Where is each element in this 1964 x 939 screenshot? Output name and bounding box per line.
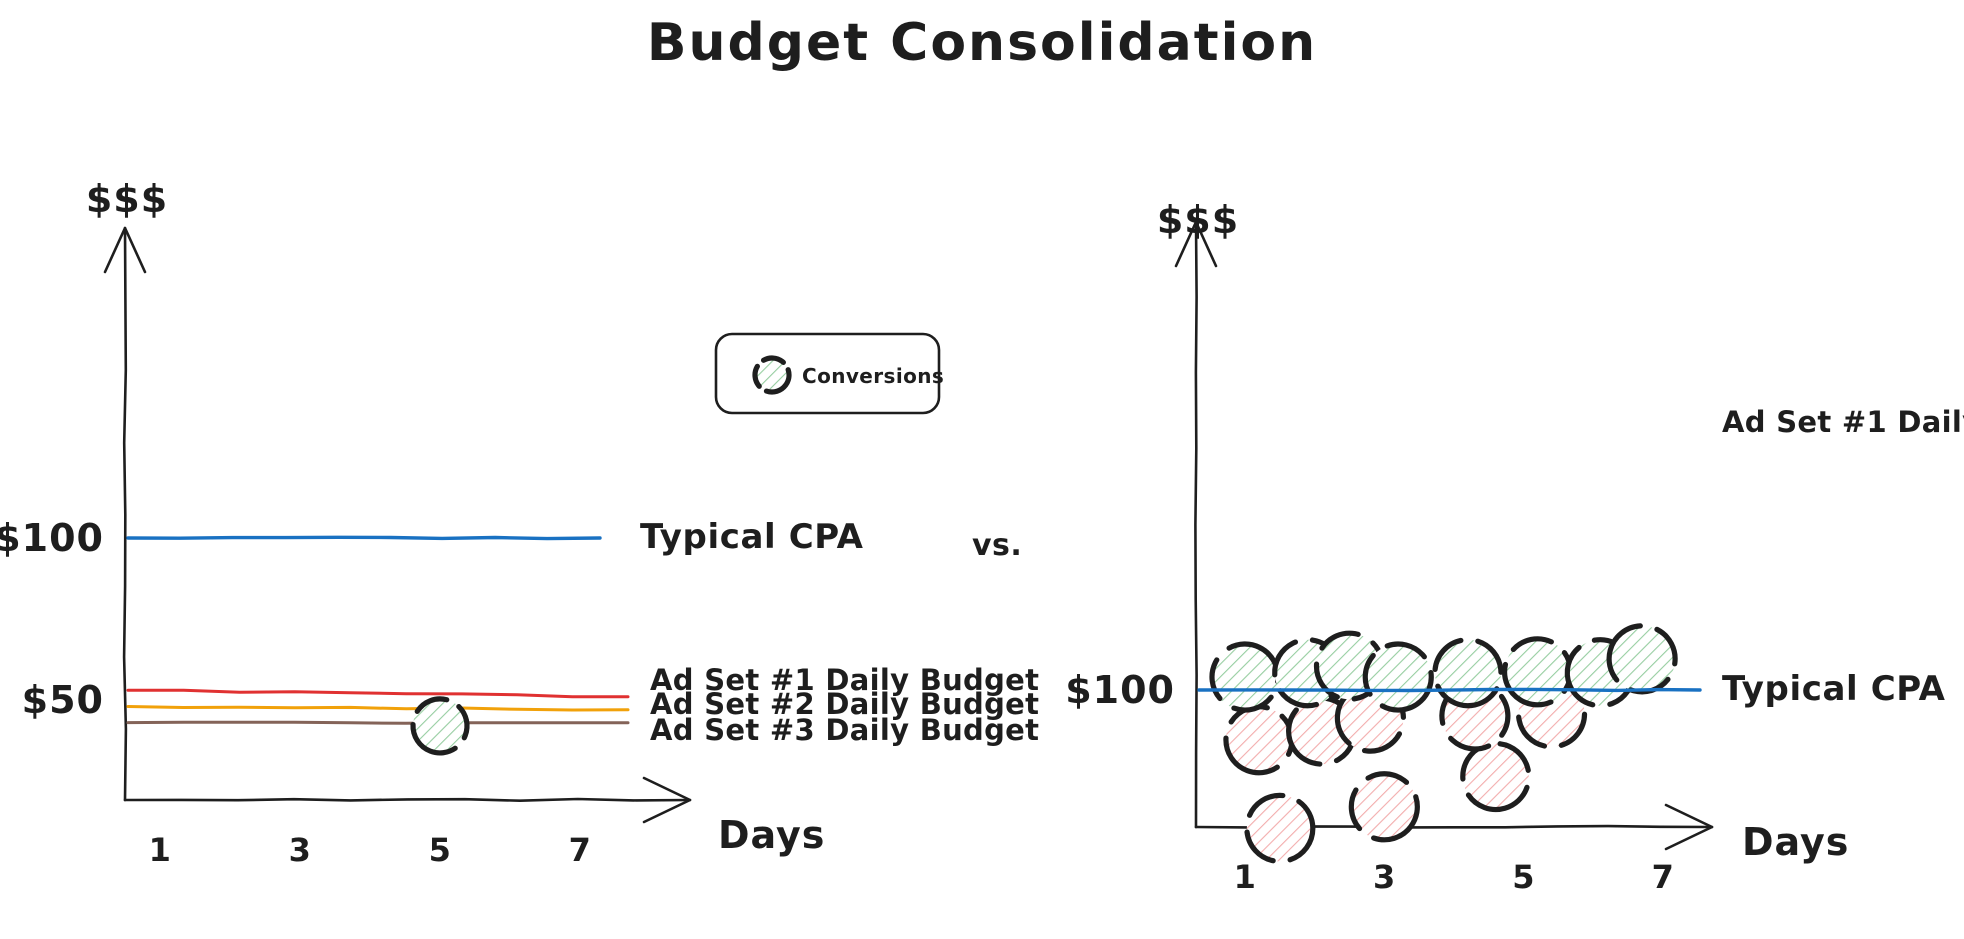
right-y-axis-label: $$$ xyxy=(1157,198,1239,242)
right-y-tick-100: $100 xyxy=(1065,668,1175,712)
legend-label: Conversions xyxy=(802,364,944,388)
right-series-line-cpa xyxy=(1199,689,1700,690)
left-y-tick-50: $50 xyxy=(22,678,104,722)
left-y-axis-label: $$$ xyxy=(86,177,168,221)
diagram-canvas: Budget Consolidation$$$Days$100$501357Ty… xyxy=(0,0,1964,939)
page-title: Budget Consolidation xyxy=(647,13,1317,73)
conversion-bubble xyxy=(1247,795,1313,861)
y-axis-line xyxy=(1195,222,1196,827)
y-axis-line xyxy=(124,228,126,800)
right-y-tick-715: $715 xyxy=(1065,934,1175,939)
page-title-text: Budget Consolidation xyxy=(647,13,1317,73)
consolidated-budget-chart: $$$Days$715$1001357Ad Set #1 Daily Budge… xyxy=(1065,198,1964,939)
left-x-axis-label: Days xyxy=(718,813,825,857)
left-series-label-3: Ad Set #3 Daily Budget xyxy=(650,713,1039,747)
conversion-bubble xyxy=(405,691,475,761)
right-series-label-0: Ad Set #1 Daily Budget xyxy=(1722,405,1964,439)
series-line-0 xyxy=(128,537,600,538)
left-x-tick-1: 1 xyxy=(149,831,172,869)
series-line-1 xyxy=(128,690,628,697)
versus-separator: vs. xyxy=(972,528,1022,563)
left-x-tick-3: 3 xyxy=(289,831,312,869)
x-axis-line xyxy=(125,799,690,801)
series-line-2 xyxy=(128,706,628,710)
left-x-tick-5: 5 xyxy=(429,831,452,869)
conversion-bubble xyxy=(1338,761,1430,853)
right-x-tick-3: 3 xyxy=(1373,858,1396,896)
left-y-tick-100: $100 xyxy=(0,516,104,560)
right-series-label-1: Typical CPA xyxy=(1722,669,1946,709)
series-line-3 xyxy=(128,722,628,723)
legend-box[interactable]: Conversions xyxy=(716,334,944,413)
right-x-axis-label: Days xyxy=(1742,820,1849,864)
left-x-tick-7: 7 xyxy=(569,831,592,869)
fragmented-budgets-chart: $$$Days$100$501357Typical CPAAd Set #1 D… xyxy=(0,177,1039,869)
right-x-tick-7: 7 xyxy=(1652,858,1675,896)
left-series-label-0: Typical CPA xyxy=(640,517,864,557)
right-x-tick-5: 5 xyxy=(1512,858,1535,896)
right-x-tick-1: 1 xyxy=(1234,858,1257,896)
